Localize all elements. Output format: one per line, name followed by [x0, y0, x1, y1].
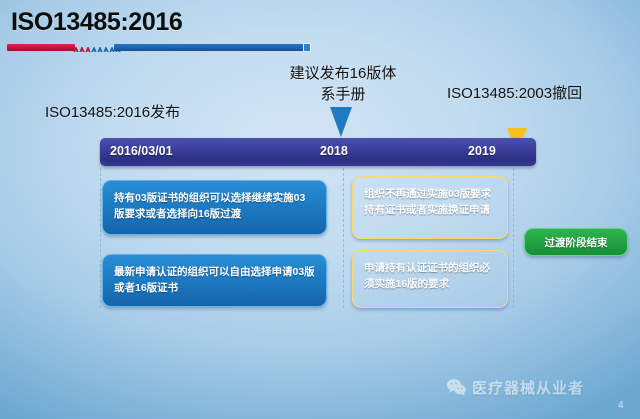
- card-amber-1: 组织不再通过实施03版要求持有证书或者实施换证申请: [352, 176, 508, 239]
- wechat-icon: [446, 377, 467, 398]
- divider-bar: [7, 43, 310, 52]
- card-blue-1: 持有03版证书的组织可以选择继续实施03版要求或者选择向16版过渡: [102, 180, 327, 235]
- timeline-milestone-2016: 2016/03/01: [110, 144, 173, 158]
- watermark: 医疗器械从业者: [446, 377, 584, 398]
- watermark-text: 医疗器械从业者: [472, 377, 584, 398]
- page-number: 4: [618, 400, 624, 411]
- card-amber-2: 申请持有认证证书的组织必须实施16版的要求: [352, 250, 508, 308]
- page-title: ISO13485:2016: [11, 8, 182, 37]
- divider-end-cap: [303, 43, 311, 52]
- timeline-bar: 2016/03/01 2018 2019: [100, 138, 536, 166]
- guide-line-middle: [343, 168, 344, 308]
- timeline-milestone-2018: 2018: [320, 144, 348, 158]
- callout-label-release: ISO13485:2016发布: [45, 103, 180, 122]
- guide-line-left: [100, 168, 101, 308]
- card-blue-2: 最新申请认证的组织可以自由选择申请03版或者16版证书: [102, 254, 327, 307]
- divider-blue-segment: [114, 44, 310, 51]
- slide-canvas: ISO13485:2016 ISO13485:2016发布 建议发布16版体系手…: [0, 0, 640, 419]
- callout-label-withdrawal: ISO13485:2003撤回: [447, 84, 582, 103]
- pointer-triangle-blue-icon: [330, 107, 352, 137]
- divider-red-segment: [7, 44, 75, 51]
- timeline-milestone-2019: 2019: [468, 144, 496, 158]
- guide-line-right: [513, 168, 514, 308]
- callout-label-manual: 建议发布16版体系手册: [289, 63, 397, 105]
- card-green-end: 过渡阶段结束: [524, 228, 628, 256]
